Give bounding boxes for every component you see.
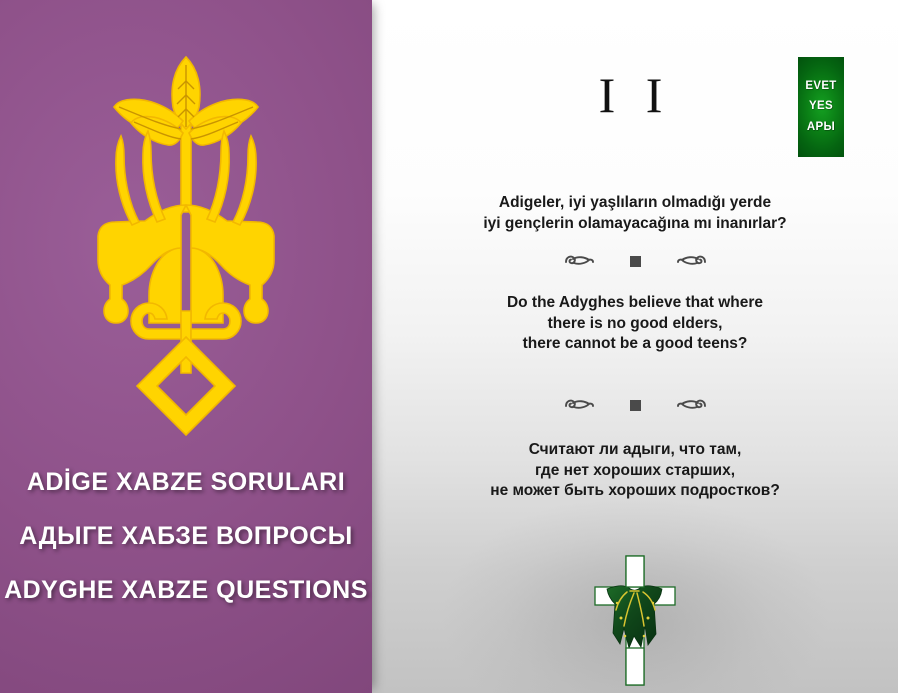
question-english-line-3: there cannot be a good teens? <box>372 334 898 355</box>
adyghe-emblem <box>71 55 301 440</box>
sidebar-title-turkish: ADİGE XABZE SORULARI <box>0 470 372 495</box>
badge-label-adyghe: АРЫ <box>807 122 835 134</box>
ornament-divider <box>372 248 898 274</box>
left-flourish-icon <box>562 395 594 415</box>
question-turkish: Adigeler, iyi yaşlıların olmadığı yerde … <box>372 193 898 234</box>
sidebar-panel: ADİGE XABZE SORULARI АДЫГЕ ХАБЗЕ ВОПРОСЫ… <box>0 0 372 693</box>
cross-with-green-drape <box>577 548 692 693</box>
question-russian: Считают ли адыги, что там, где нет хорош… <box>372 440 898 502</box>
ornament-divider <box>372 392 898 418</box>
badge-label-turkish: EVET <box>805 81 836 93</box>
square-bullet-icon <box>630 256 641 267</box>
sidebar-titles: ADİGE XABZE SORULARI АДЫГЕ ХАБЗЕ ВОПРОСЫ… <box>0 470 372 603</box>
badge-label-english: YES <box>809 101 833 113</box>
question-english-line-1: Do the Adyghes believe that where <box>372 293 898 314</box>
square-bullet-icon <box>630 400 641 411</box>
right-flourish-icon <box>677 395 709 415</box>
content-panel: I I EVET YES АРЫ Adigeler, iyi yaşlıları… <box>372 0 898 693</box>
question-english: Do the Adyghes believe that where there … <box>372 293 898 355</box>
question-russian-line-1: Считают ли адыги, что там, <box>372 440 898 461</box>
adyghe-emblem-icon <box>71 55 301 440</box>
left-flourish-icon <box>562 251 594 271</box>
question-russian-line-2: где нет хороших старших, <box>372 461 898 482</box>
slide-root: ADİGE XABZE SORULARI АДЫГЕ ХАБЗЕ ВОПРОСЫ… <box>0 0 898 693</box>
question-russian-line-3: не может быть хороших подростков? <box>372 481 898 502</box>
question-turkish-line-1: Adigeler, iyi yaşlıların olmadığı yerde <box>372 193 898 214</box>
sidebar-title-english: ADYGHE XABZE QUESTIONS <box>0 578 372 603</box>
yes-answer-badge[interactable]: EVET YES АРЫ <box>798 57 844 157</box>
question-english-line-2: there is no good elders, <box>372 314 898 335</box>
cross-icon <box>577 548 692 693</box>
sidebar-title-russian: АДЫГЕ ХАБЗЕ ВОПРОСЫ <box>0 524 372 549</box>
right-flourish-icon <box>677 251 709 271</box>
question-turkish-line-2: iyi gençlerin olamayacağına mı inanırlar… <box>372 214 898 235</box>
